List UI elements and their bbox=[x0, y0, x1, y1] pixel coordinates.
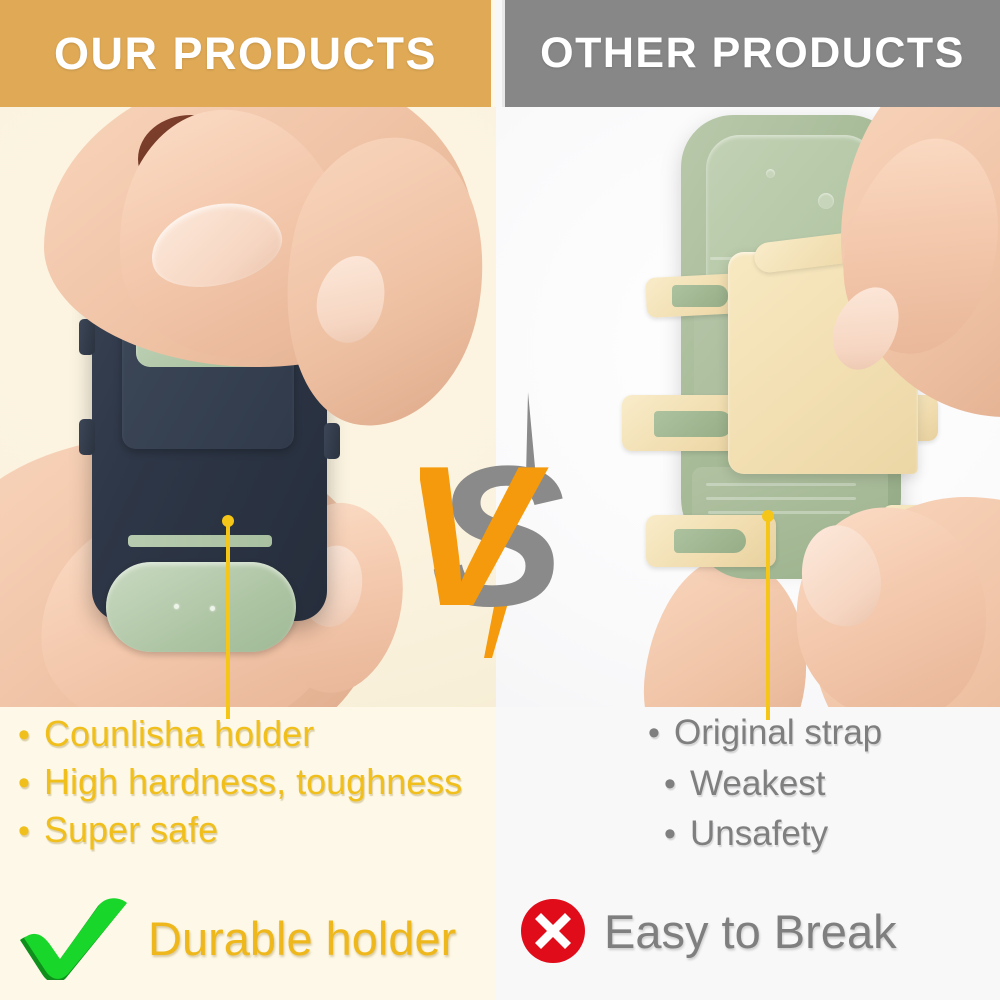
list-item: • High hardness, toughness bbox=[18, 760, 498, 804]
other-products-verdict-label: Easy to Break bbox=[604, 904, 897, 959]
bullet-text: Original strap bbox=[674, 712, 882, 755]
bullet-text: Counlisha holder bbox=[44, 712, 314, 756]
bullet-marker: • bbox=[648, 716, 674, 750]
other-products-banner: OTHER PRODUCTS bbox=[502, 0, 1000, 107]
our-products-feature-list: • Counlisha holder • High hardness, toug… bbox=[18, 712, 498, 856]
our-products-banner-label: OUR PRODUCTS bbox=[54, 28, 437, 80]
green-lozenge-insert bbox=[106, 562, 296, 652]
bullet-text: Super safe bbox=[44, 808, 218, 852]
comparison-infographic: OUR PRODUCTS OTHER PRODUCTS S V • Counli… bbox=[0, 0, 1000, 1000]
other-products-banner-label: OTHER PRODUCTS bbox=[540, 29, 965, 78]
bullet-text: Weakest bbox=[690, 763, 826, 806]
right-pointer-line bbox=[766, 516, 770, 720]
our-products-banner: OUR PRODUCTS bbox=[0, 0, 491, 107]
bullet-marker: • bbox=[664, 767, 690, 801]
other-products-feature-list: • Original strap • Weakest • Unsafety bbox=[648, 712, 993, 864]
green-clip-bottom-left bbox=[674, 529, 746, 553]
list-item: • Original strap bbox=[648, 712, 993, 755]
bullet-marker: • bbox=[18, 718, 44, 752]
bullet-text: High hardness, toughness bbox=[44, 760, 462, 804]
our-products-verdict: Durable holder bbox=[14, 896, 456, 980]
list-item: • Super safe bbox=[18, 808, 498, 852]
vs-letter-v: V bbox=[420, 425, 549, 648]
green-strip-insert bbox=[128, 535, 272, 547]
list-item: • Unsafety bbox=[648, 813, 993, 856]
vs-badge: S V bbox=[420, 390, 590, 660]
list-item: • Counlisha holder bbox=[18, 712, 498, 756]
other-products-verdict: Easy to Break bbox=[520, 898, 897, 964]
bullet-text: Unsafety bbox=[690, 813, 828, 856]
bullet-marker: • bbox=[18, 814, 44, 848]
bullet-marker: • bbox=[664, 817, 690, 851]
red-cross-icon bbox=[520, 898, 586, 964]
our-products-verdict-label: Durable holder bbox=[148, 911, 456, 966]
green-check-icon bbox=[14, 896, 134, 980]
green-clip-mid-left bbox=[654, 411, 732, 437]
list-item: • Weakest bbox=[648, 763, 993, 806]
green-clip-top-left bbox=[672, 285, 728, 307]
bullet-marker: • bbox=[18, 766, 44, 800]
left-pointer-line bbox=[226, 521, 230, 719]
